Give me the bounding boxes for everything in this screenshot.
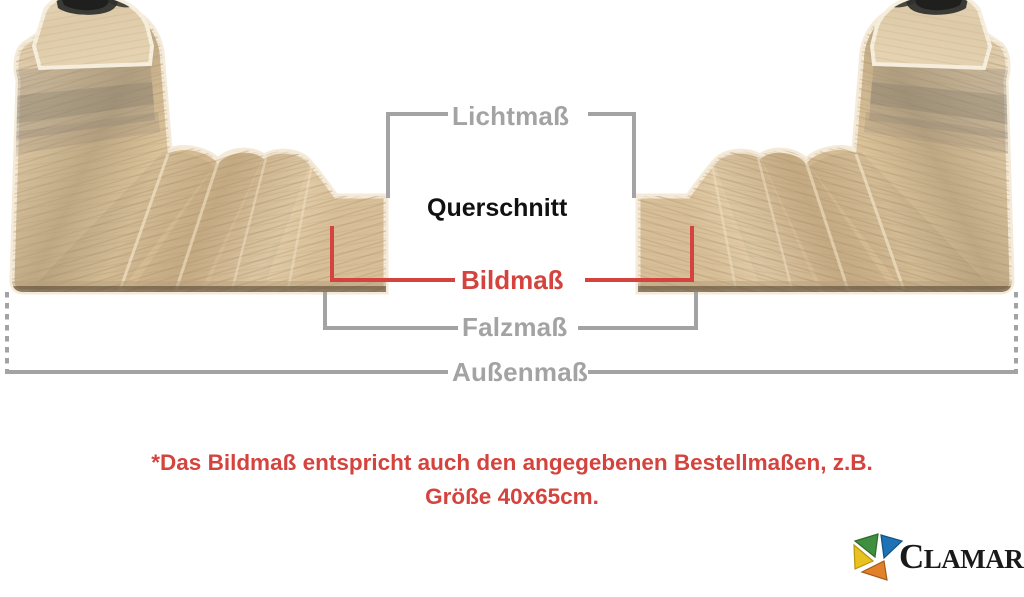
footnote: *Das Bildmaß entspricht auch den angegeb… — [0, 446, 1024, 514]
bildmass-label: Bildmaß — [461, 267, 564, 293]
lichtmass-left-leader — [386, 112, 448, 116]
lichtmass-right-leader — [588, 112, 636, 116]
falzmass-left-leader — [323, 326, 458, 330]
falzmass-label: Falzmaß — [462, 314, 567, 340]
diagram-canvas: Lichtmaß Querschnitt Bildmaß Falzmaß Auß… — [0, 0, 1024, 597]
aussenmass-right-leader — [588, 370, 1018, 374]
falzmass-right-leader — [578, 326, 698, 330]
aussenmass-label: Außenmaß — [452, 359, 588, 385]
aussenmass-left-leader — [5, 370, 448, 374]
bildmass-left-tick — [330, 226, 334, 282]
wordmark-rest: LAMARO — [924, 544, 1024, 574]
bildmass-right-leader — [585, 278, 694, 282]
falzmass-left-tick — [323, 292, 327, 330]
lichtmass-right-tick — [632, 112, 636, 198]
footnote-line-1: *Das Bildmaß entspricht auch den angegeb… — [151, 450, 872, 475]
bildmass-left-leader — [330, 278, 455, 282]
clamaro-wordmark: CLAMARO® — [899, 537, 1024, 577]
bildmass-right-tick — [690, 226, 694, 282]
lichtmass-left-tick — [386, 112, 390, 198]
lichtmass-label: Lichtmaß — [452, 103, 569, 129]
aussenmass-right-tick — [1014, 292, 1018, 372]
falzmass-right-tick — [694, 292, 698, 330]
clamaro-logo: CLAMARO® — [852, 527, 1012, 583]
aussenmass-left-tick — [5, 292, 9, 372]
diagram-title: Querschnitt — [427, 196, 567, 221]
wordmark-initial: C — [899, 537, 924, 576]
footnote-line-2: Größe 40x65cm. — [0, 480, 1024, 514]
